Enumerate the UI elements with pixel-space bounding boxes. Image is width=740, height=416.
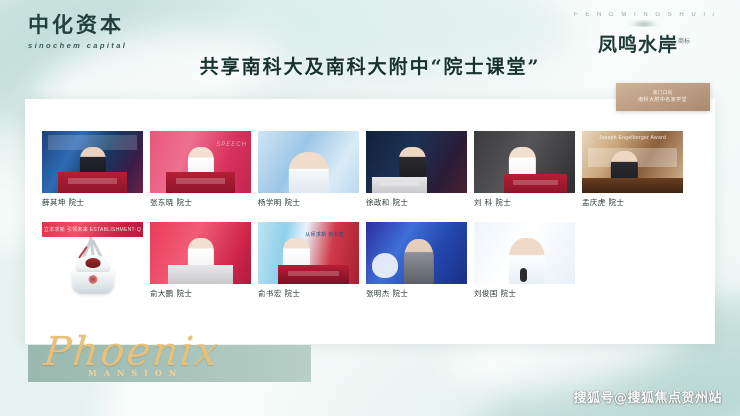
badge-line-2: 南科大附中名家学堂 bbox=[639, 97, 688, 103]
photo-caption: 张东晓 院士 bbox=[150, 197, 251, 208]
photo-caption: 张明杰 院士 bbox=[366, 288, 467, 299]
academician-photo bbox=[474, 131, 575, 193]
sinochem-capital-logo: 中化资本 sinochem capital bbox=[28, 14, 127, 50]
gallery-item[interactable]: 刘 科 院士 bbox=[474, 131, 575, 208]
gallery-item[interactable]: 从师求新 俞书宏 俞书宏 院士 bbox=[258, 222, 359, 299]
status-badge: 家门口的 南科大附中名家学堂 bbox=[616, 83, 710, 111]
sohu-watermark: 搜狐号@搜狐焦点贺州站 bbox=[573, 387, 722, 406]
photo-caption: 刘俊国 院士 bbox=[474, 288, 575, 299]
academician-photo bbox=[366, 131, 467, 193]
photo-caption: 杨学明 院士 bbox=[258, 197, 359, 208]
academician-photo bbox=[474, 222, 575, 284]
photo-caption: 俞大鹏 院士 bbox=[150, 288, 251, 299]
wave-mark-icon bbox=[627, 20, 661, 27]
photo-overlay-text: Joseph Engelberger Award bbox=[599, 135, 666, 141]
sinochem-logo-en: sinochem capital bbox=[28, 41, 127, 50]
gallery-item[interactable]: SPEECH 张东晓 院士 bbox=[150, 131, 251, 208]
photo-caption: 俞书宏 院士 bbox=[258, 288, 359, 299]
academician-photo: Joseph Engelberger Award bbox=[582, 131, 683, 193]
photo-overlay-text: 从师求新 俞书宏 bbox=[305, 231, 344, 238]
gallery-item[interactable]: Joseph Engelberger Award 孟庆虎 院士 bbox=[582, 131, 683, 208]
page-title: 共享南科大及南科大附中“院士课堂” bbox=[0, 52, 740, 79]
mansion-subtext: MANSION bbox=[88, 368, 183, 378]
academician-photo bbox=[366, 222, 467, 284]
gallery-item[interactable]: 杨学明 院士 bbox=[258, 131, 359, 208]
fengmingshuian-logo: F E N G M I N G S H U I A N 凤鸣水岸商标 bbox=[574, 12, 714, 57]
gallery-item[interactable]: 刘俊国 院士 bbox=[474, 222, 575, 299]
gallery-item[interactable]: 张明杰 院士 bbox=[366, 222, 467, 299]
sinochem-logo-cn: 中化资本 bbox=[28, 14, 127, 37]
content-card: 家门口的 南科大附中名家学堂 薛其坤 院士 bbox=[25, 99, 715, 344]
trademark-mark: 商标 bbox=[678, 39, 690, 45]
academician-photo: 从师求新 俞书宏 bbox=[258, 222, 359, 284]
academician-photo bbox=[258, 131, 359, 193]
fengmingshuian-pinyin: F E N G M I N G S H U I A N bbox=[574, 12, 714, 18]
phoenix-mansion-logo: Phoenix MANSION bbox=[28, 345, 311, 382]
academician-gallery: 薛其坤 院士 SPEECH 张东晓 院士 bbox=[42, 131, 705, 299]
surgical-robot-image bbox=[42, 237, 143, 299]
gallery-row: 立本求新 引领未来 ESTABLISHMENT·Q 赵东风 院士 俞大鹏 院士 bbox=[42, 222, 705, 299]
slide-canvas: 中化资本 sinochem capital F E N G M I N G S … bbox=[0, 0, 740, 416]
gallery-item-device[interactable] bbox=[42, 131, 143, 299]
academician-photo bbox=[150, 222, 251, 284]
badge-line-1: 家门口的 bbox=[653, 90, 673, 96]
academician-photo: SPEECH bbox=[150, 131, 251, 193]
gallery-item[interactable]: 徐政和 院士 bbox=[366, 131, 467, 208]
photo-overlay-text: SPEECH bbox=[216, 142, 247, 148]
gallery-item[interactable]: 俞大鹏 院士 bbox=[150, 222, 251, 299]
photo-caption: 刘 科 院士 bbox=[474, 197, 575, 208]
photo-caption: 徐政和 院士 bbox=[366, 197, 467, 208]
photo-caption: 孟庆虎 院士 bbox=[582, 197, 683, 208]
